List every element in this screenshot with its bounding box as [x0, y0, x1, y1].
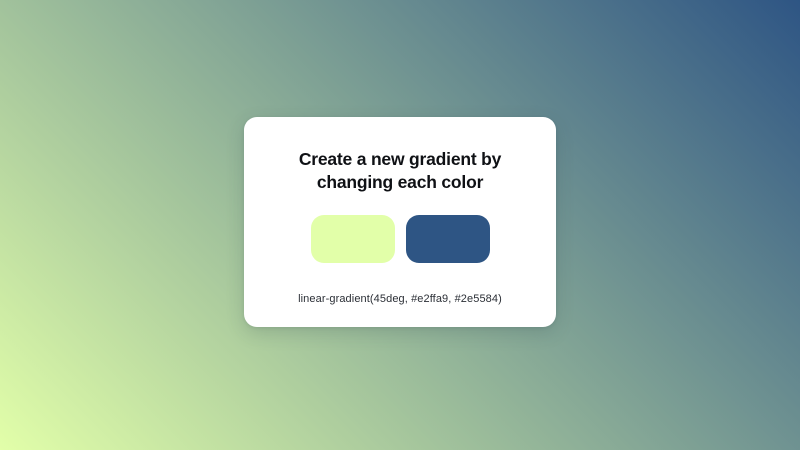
gradient-css-caption: linear-gradient(45deg, #e2ffa9, #2e5584) — [298, 292, 502, 306]
gradient-preview-stage: Create a new gradient by changing each c… — [0, 0, 800, 450]
gradient-editor-card: Create a new gradient by changing each c… — [244, 117, 556, 327]
color-swatch-end[interactable] — [406, 215, 490, 263]
color-swatch-start[interactable] — [311, 215, 395, 263]
page-title: Create a new gradient by changing each c… — [275, 148, 525, 194]
color-swatch-row — [311, 215, 490, 263]
